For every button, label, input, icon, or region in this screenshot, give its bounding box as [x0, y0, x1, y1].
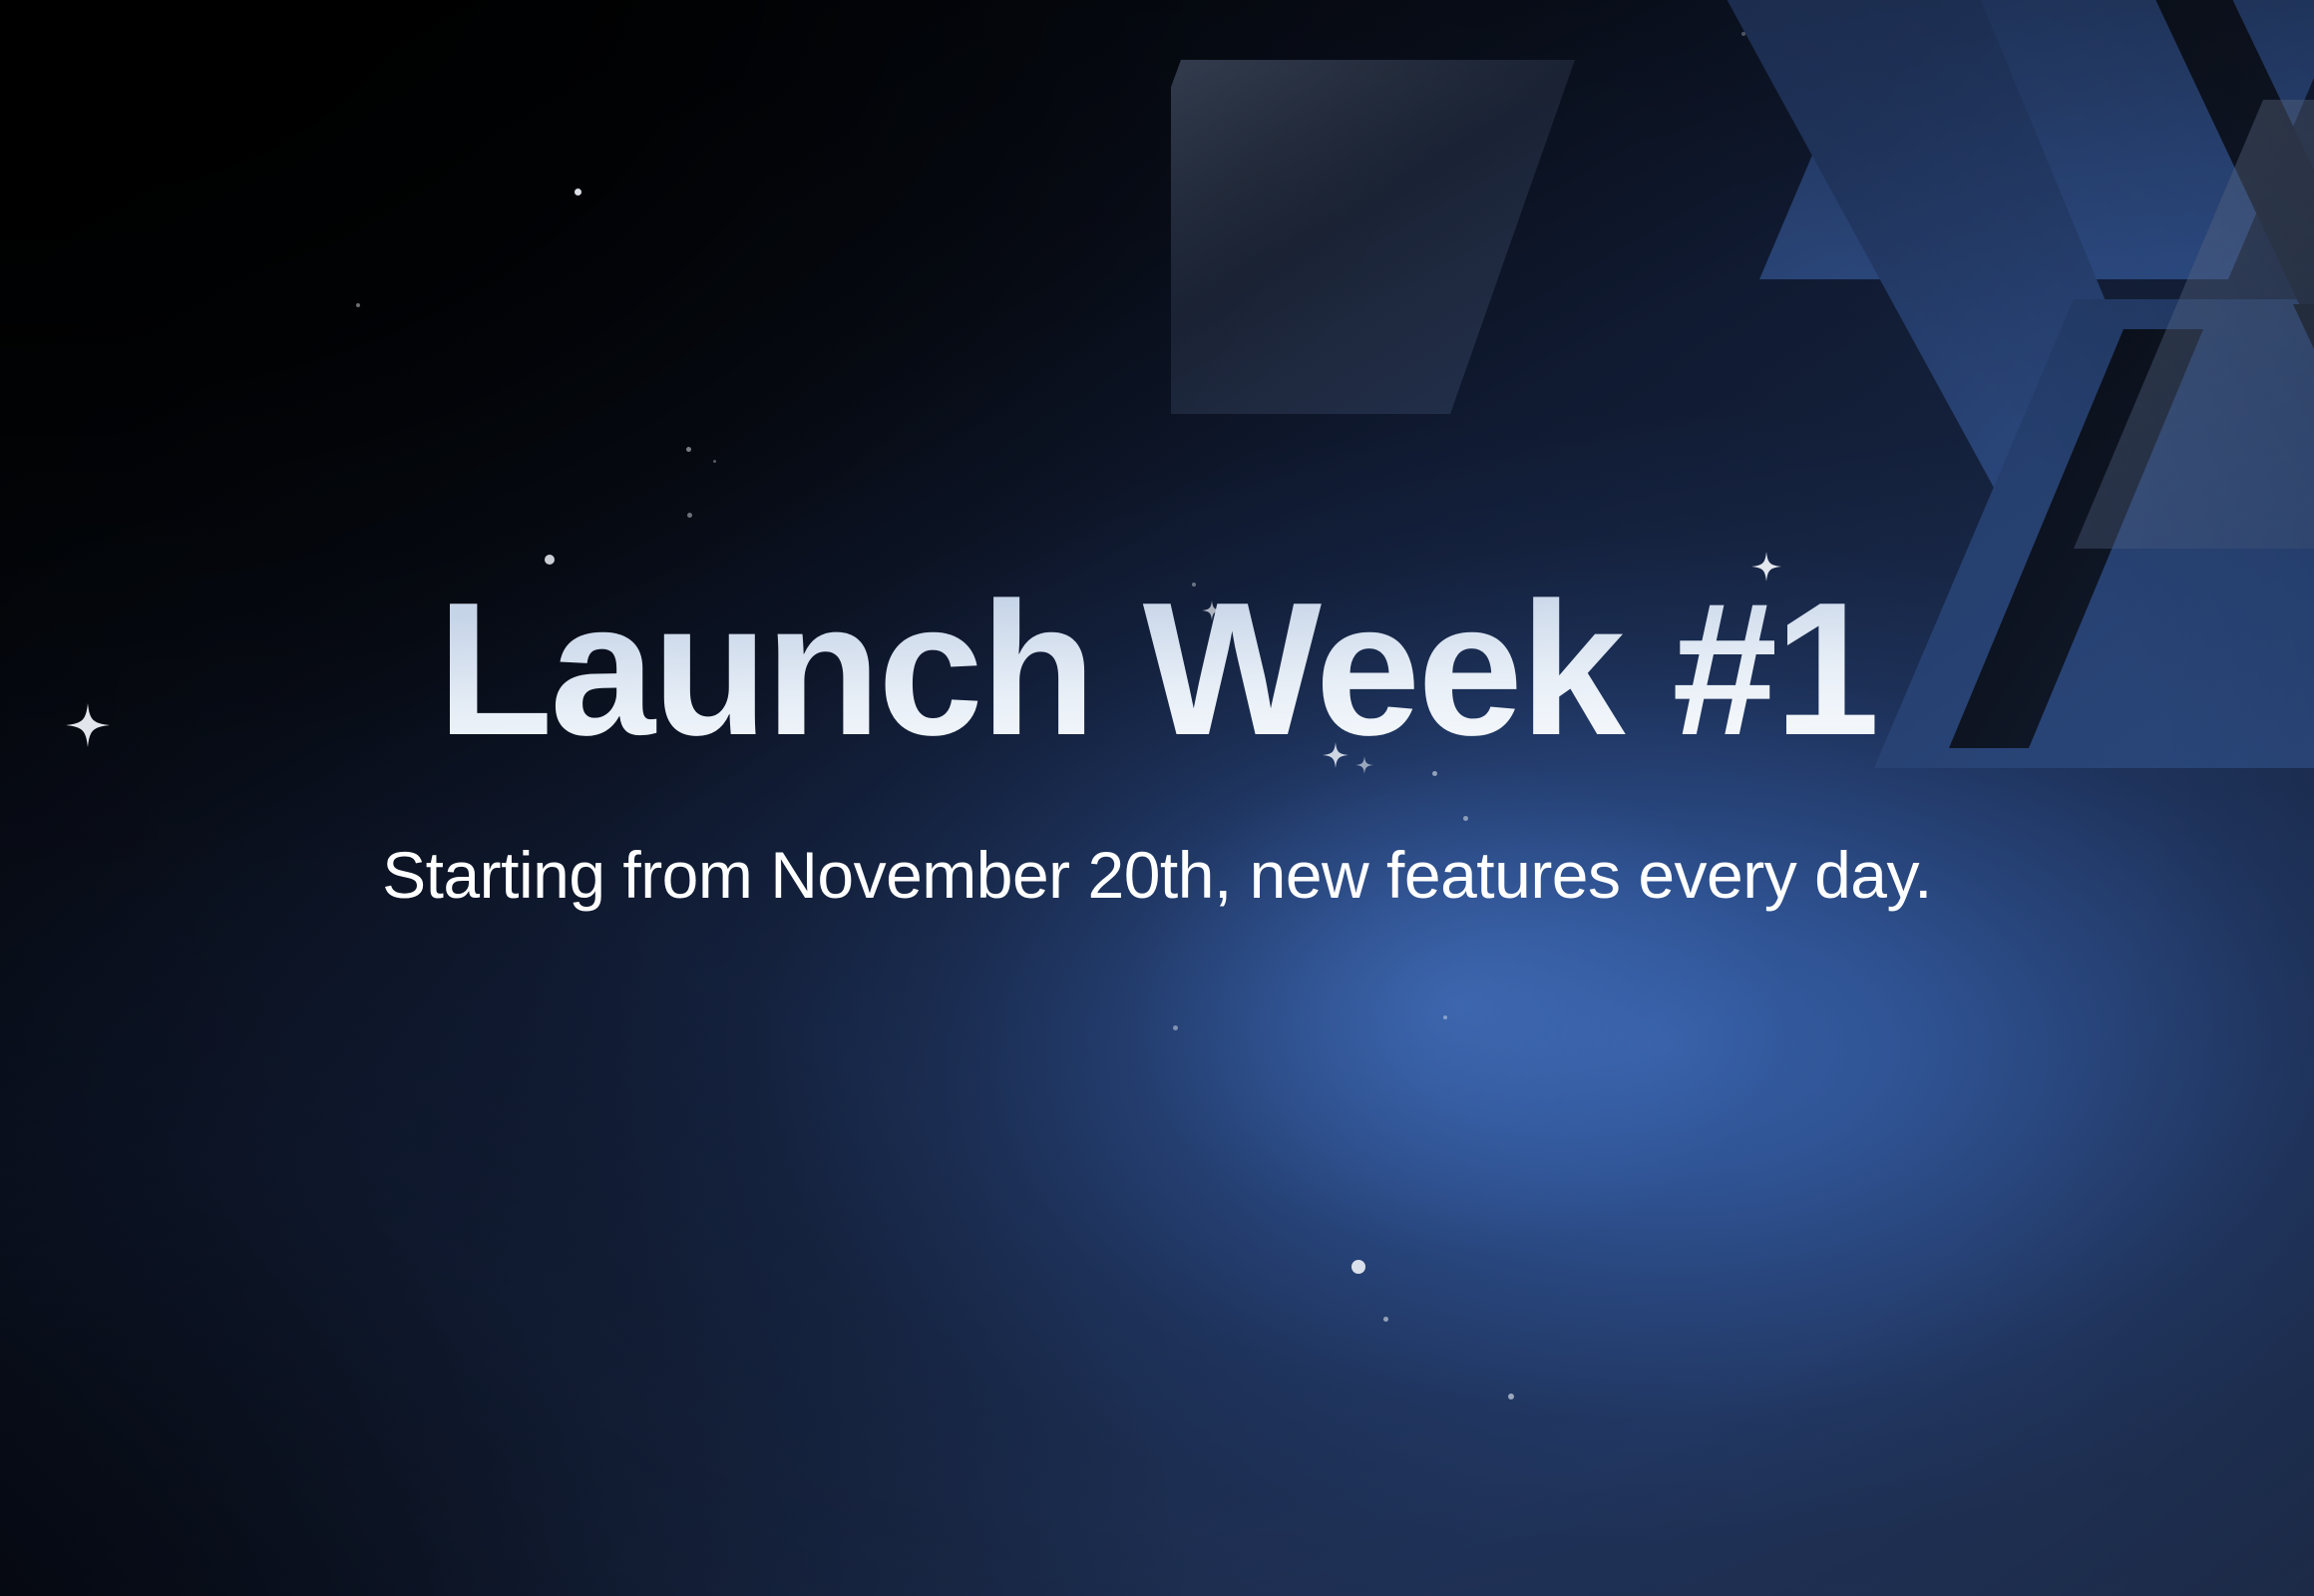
page-subtitle: Starting from November 20th, new feature…	[0, 836, 2314, 915]
launch-week-hero-banner: Launch Week #1 Starting from November 20…	[0, 0, 2314, 1596]
page-title: Launch Week #1	[0, 571, 2314, 770]
hero-content: Launch Week #1 Starting from November 20…	[0, 0, 2314, 1596]
